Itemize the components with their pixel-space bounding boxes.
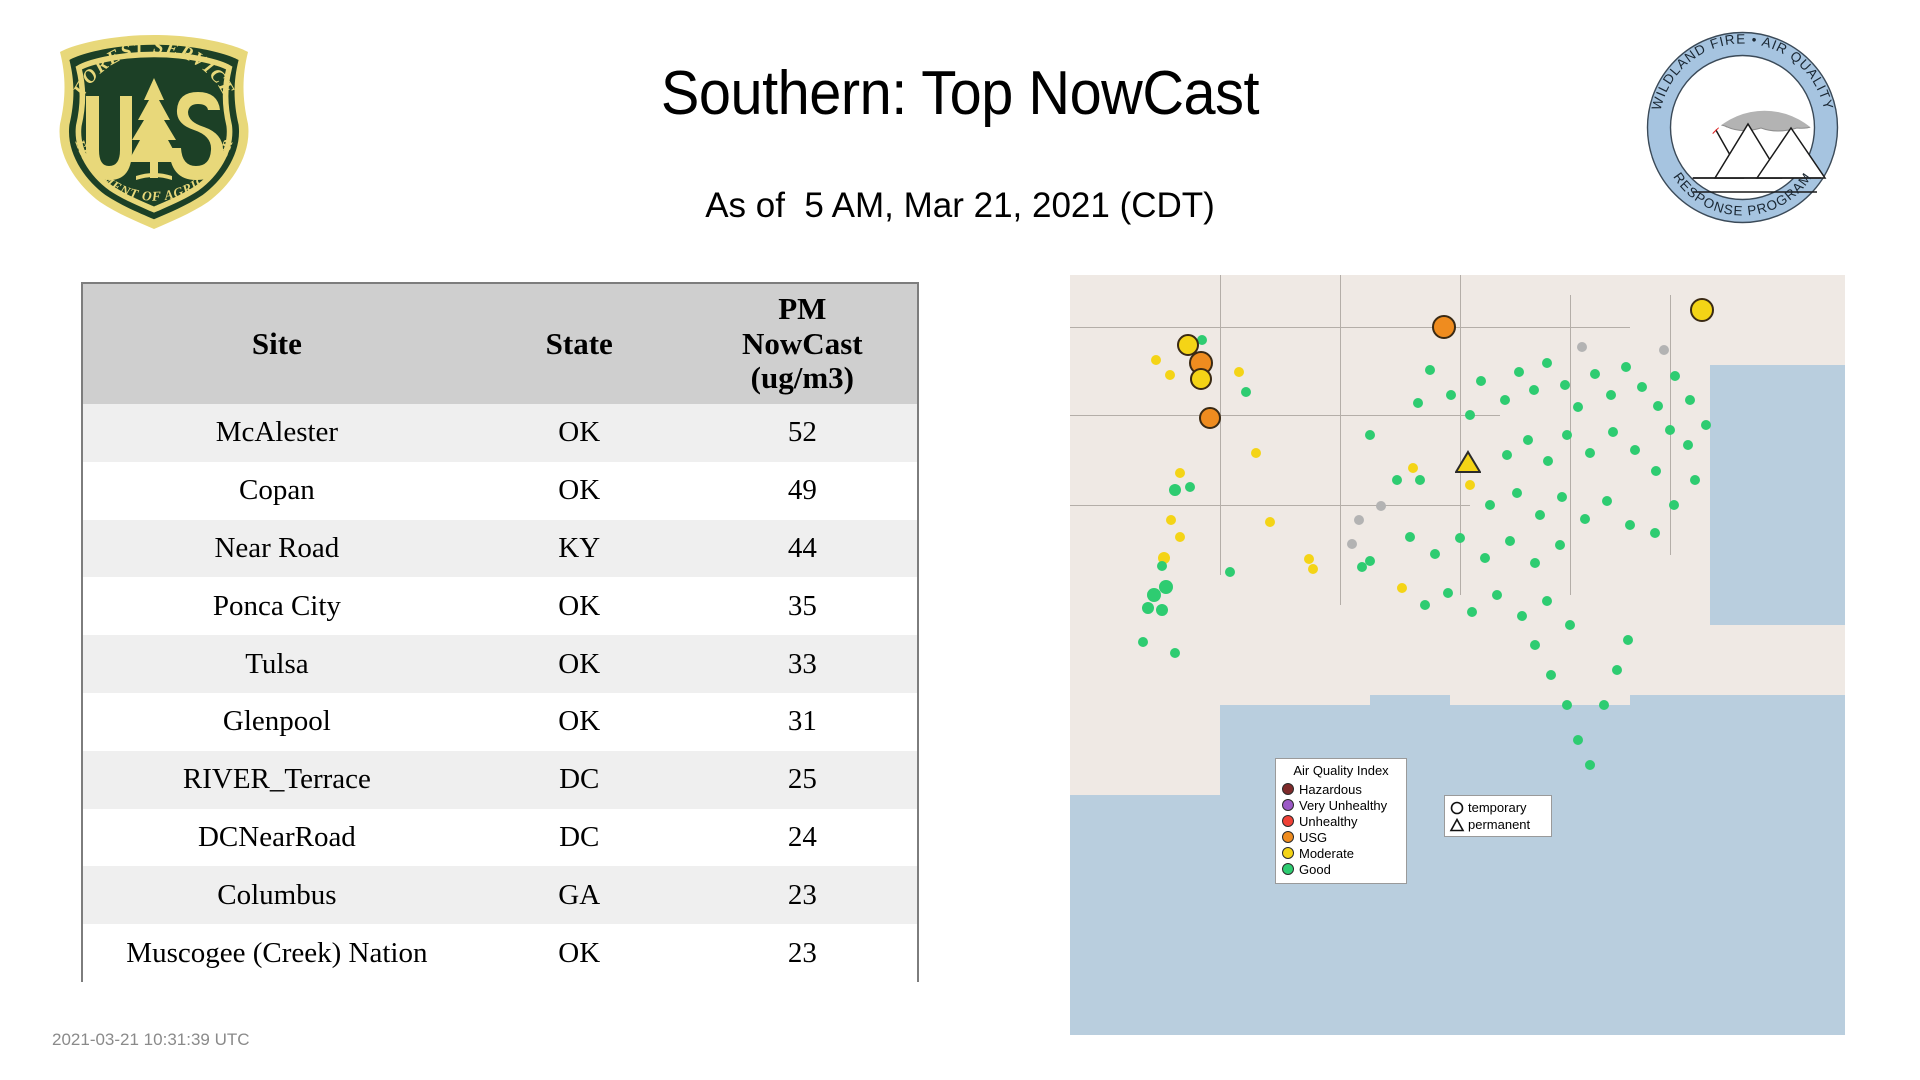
monitor-dot[interactable] [1365,556,1375,566]
aqi-swatch-icon [1282,815,1294,827]
monitor-dot[interactable] [1665,425,1675,435]
monitor-dot[interactable] [1502,450,1512,460]
monitor-dot[interactable] [1476,376,1486,386]
aqi-legend-label: Unhealthy [1299,815,1358,828]
monitor-dot[interactable] [1165,370,1175,380]
monitor-dot[interactable] [1432,315,1456,339]
monitor-dot[interactable] [1514,367,1524,377]
monitor-dot[interactable] [1308,564,1318,574]
monitor-dot[interactable] [1637,382,1647,392]
monitor-dot[interactable] [1670,371,1680,381]
monitor-dot[interactable] [1443,588,1453,598]
aqi-legend-item: Hazardous [1282,781,1400,797]
cell-state: OK [471,404,688,462]
cell-site: Near Road [83,520,471,578]
monitor-dot[interactable] [1151,355,1161,365]
monitor-dot[interactable] [1685,395,1695,405]
monitor-dot[interactable] [1683,440,1693,450]
map-boundary-2 [1070,415,1500,416]
permanent-label: permanent [1468,818,1530,831]
pm-header-line2: NowCast [688,327,917,362]
monitor-dot[interactable] [1543,456,1553,466]
cell-value: 31 [688,693,917,751]
aqi-legend-label: Hazardous [1299,783,1362,796]
cell-value: 49 [688,462,917,520]
aqi-legend-label: Very Unhealthy [1299,799,1387,812]
monitor-dot[interactable] [1580,514,1590,524]
cell-value: 25 [688,751,917,809]
monitor-dot[interactable] [1397,583,1407,593]
table-row: GlenpoolOK31 [83,693,917,751]
monitor-dot[interactable] [1199,407,1221,429]
monitor-dot[interactable] [1265,517,1275,527]
cell-site: RIVER_Terrace [83,751,471,809]
table-row: Ponca CityOK35 [83,577,917,635]
monitor-dot[interactable] [1608,427,1618,437]
aqi-legend-item: Very Unhealthy [1282,797,1400,813]
monitor-dot[interactable] [1557,492,1567,502]
cell-state: KY [471,520,688,578]
monitor-dot[interactable] [1413,398,1423,408]
aqi-legend-item: USG [1282,829,1400,845]
monitor-dot[interactable] [1376,501,1386,511]
monitor-dot[interactable] [1573,735,1583,745]
top-nowcast-table: Site State PM NowCast (ug/m3) McAlesterO… [81,282,919,982]
cell-site: Glenpool [83,693,471,751]
monitor-dot[interactable] [1467,607,1477,617]
aqi-legend-label: Moderate [1299,847,1354,860]
cell-site: Columbus [83,866,471,924]
cell-value: 44 [688,520,917,578]
table-body: McAlesterOK52CopanOK49Near RoadKY44Ponca… [83,404,917,982]
monitor-dot[interactable] [1606,390,1616,400]
aqi-legend: Air Quality Index HazardousVery Unhealth… [1275,758,1407,884]
cell-value: 23 [688,866,917,924]
cell-state: OK [471,693,688,751]
cell-site: Ponca City [83,577,471,635]
air-quality-map[interactable]: Air Quality Index HazardousVery Unhealth… [1070,275,1845,1035]
monitor-dot[interactable] [1480,553,1490,563]
aqi-swatch-icon [1282,863,1294,875]
map-water-southwest [1070,795,1270,1035]
cell-site: Tulsa [83,635,471,693]
cell-state: DC [471,751,688,809]
monitor-dot[interactable] [1573,402,1583,412]
aqi-legend-label: USG [1299,831,1327,844]
monitor-dot[interactable] [1623,635,1633,645]
cell-value: 33 [688,635,917,693]
monitor-dot[interactable] [1690,475,1700,485]
legend-row-temporary: temporary [1449,799,1547,816]
pm-header-line3: (ug/m3) [688,361,917,396]
monitor-dot[interactable] [1529,385,1539,395]
monitor-dot[interactable] [1585,448,1595,458]
permanent-monitor-icon [1449,817,1465,833]
monitor-dot[interactable] [1425,365,1435,375]
aqi-legend-title: Air Quality Index [1282,763,1400,778]
monitor-dot[interactable] [1630,445,1640,455]
monitor-dot[interactable] [1535,510,1545,520]
monitor-dot[interactable] [1392,475,1402,485]
cell-state: OK [471,635,688,693]
page-header: FOREST SERVICE DEPARTMENT OF AGRICULTURE… [0,0,1920,230]
monitor-dot[interactable] [1612,665,1622,675]
monitor-dot[interactable] [1546,670,1556,680]
pm-header-line1: PM [688,292,917,327]
monitor-dot[interactable] [1621,362,1631,372]
cell-site: McAlester [83,404,471,462]
table-row: RIVER_TerraceDC25 [83,751,917,809]
monitor-dot[interactable] [1465,480,1475,490]
monitor-dot[interactable] [1562,700,1572,710]
column-header-site: Site [83,284,471,404]
cell-value: 23 [688,924,917,982]
column-header-state: State [471,284,688,404]
monitor-dot[interactable] [1560,380,1570,390]
monitor-dot[interactable] [1241,387,1251,397]
monitor-dot[interactable] [1157,561,1167,571]
monitor-dot[interactable] [1415,475,1425,485]
table-row: McAlesterOK52 [83,404,917,462]
permanent-monitor-marker[interactable] [1455,450,1481,474]
aqi-legend-item: Moderate [1282,845,1400,861]
table-head: Site State PM NowCast (ug/m3) [83,284,917,404]
monitor-dot[interactable] [1185,482,1195,492]
aqi-legend-item: Good [1282,861,1400,877]
monitor-dot[interactable] [1542,596,1552,606]
footer-timestamp: 2021-03-21 10:31:39 UTC [52,1030,250,1050]
cell-value: 24 [688,809,917,867]
cell-state: DC [471,809,688,867]
monitor-dot[interactable] [1669,500,1679,510]
monitor-dot[interactable] [1175,468,1185,478]
monitor-dot[interactable] [1650,528,1660,538]
monitor-dot[interactable] [1530,640,1540,650]
page-subtitle: As of 5 AM, Mar 21, 2021 (CDT) [0,186,1920,226]
monitor-dot[interactable] [1354,515,1364,525]
monitor-dot[interactable] [1659,345,1669,355]
monitor-dot[interactable] [1142,602,1154,614]
monitor-dot[interactable] [1485,500,1495,510]
wfaqrp-logo: WILDLAND FIRE • AIR QUALITY RESPONSE PRO… [1645,30,1840,225]
monitor-dot[interactable] [1562,430,1572,440]
monitor-dot[interactable] [1585,760,1595,770]
monitor-dot[interactable] [1170,648,1180,658]
monitor-dot[interactable] [1455,533,1465,543]
monitor-dot[interactable] [1625,520,1635,530]
monitor-dot[interactable] [1225,567,1235,577]
monitor-dot[interactable] [1365,430,1375,440]
cell-site: Copan [83,462,471,520]
monitor-dot[interactable] [1505,536,1515,546]
monitor-dot[interactable] [1492,590,1502,600]
map-boundary-1 [1070,327,1630,328]
monitor-dot[interactable] [1690,298,1714,322]
cell-state: OK [471,462,688,520]
monitor-dot[interactable] [1169,484,1181,496]
monitor-dot[interactable] [1408,463,1418,473]
monitor-dot[interactable] [1234,367,1244,377]
table-row: CopanOK49 [83,462,917,520]
monitor-dot[interactable] [1465,410,1475,420]
map-boundary-6 [1460,275,1461,595]
monitor-dot[interactable] [1159,580,1173,594]
cell-state: OK [471,924,688,982]
table-row: TulsaOK33 [83,635,917,693]
monitor-dot[interactable] [1577,342,1587,352]
monitor-dot[interactable] [1542,358,1552,368]
map-water-atlantic [1710,365,1845,625]
page-title: Southern: Top NowCast [67,58,1853,129]
monitor-dot[interactable] [1347,539,1357,549]
cell-site: DCNearRoad [83,809,471,867]
aqi-swatch-icon [1282,831,1294,843]
monitor-dot[interactable] [1701,420,1711,430]
monitor-dot[interactable] [1251,448,1261,458]
monitor-dot[interactable] [1653,401,1663,411]
monitor-dot[interactable] [1405,532,1415,542]
table-row: DCNearRoadDC24 [83,809,917,867]
cell-state: GA [471,866,688,924]
temporary-monitor-icon [1449,800,1465,816]
cell-state: OK [471,577,688,635]
monitor-dot[interactable] [1446,390,1456,400]
map-boundary-7 [1570,295,1571,595]
cell-value: 52 [688,404,917,462]
monitor-dot[interactable] [1430,549,1440,559]
monitor-dot[interactable] [1590,369,1600,379]
monitor-dot[interactable] [1523,435,1533,445]
monitor-dot[interactable] [1500,395,1510,405]
aqi-legend-label: Good [1299,863,1331,876]
aqi-swatch-icon [1282,783,1294,795]
monitor-dot[interactable] [1651,466,1661,476]
monitor-dot[interactable] [1599,700,1609,710]
legend-row-permanent: permanent [1449,816,1547,833]
map-boundary-4 [1220,275,1221,575]
monitor-dot[interactable] [1555,540,1565,550]
monitor-dot[interactable] [1156,604,1168,616]
table-row: Muscogee (Creek) NationOK23 [83,924,917,982]
monitor-dot[interactable] [1602,496,1612,506]
cell-site: Muscogee (Creek) Nation [83,924,471,982]
aqi-swatch-icon [1282,799,1294,811]
cell-value: 35 [688,577,917,635]
monitor-dot[interactable] [1565,620,1575,630]
aqi-legend-rows: HazardousVery UnhealthyUnhealthyUSGModer… [1282,781,1400,877]
aqi-swatch-icon [1282,847,1294,859]
temporary-label: temporary [1468,801,1527,814]
monitor-dot[interactable] [1175,532,1185,542]
aqi-legend-item: Unhealthy [1282,813,1400,829]
column-header-pm-nowcast: PM NowCast (ug/m3) [688,284,917,404]
table-row: ColumbusGA23 [83,866,917,924]
monitor-dot[interactable] [1138,637,1148,647]
nowcast-table: Site State PM NowCast (ug/m3) McAlesterO… [83,284,917,982]
monitor-dot[interactable] [1512,488,1522,498]
monitor-dot[interactable] [1517,611,1527,621]
map-boundary-5 [1340,275,1341,605]
map-boundary-3 [1070,505,1470,506]
monitor-dot[interactable] [1166,515,1176,525]
monitor-dot[interactable] [1304,554,1314,564]
monitor-type-legend: temporary permanent [1444,795,1552,837]
monitor-dot[interactable] [1420,600,1430,610]
table-header-row: Site State PM NowCast (ug/m3) [83,284,917,404]
monitor-dot[interactable] [1530,558,1540,568]
table-row: Near RoadKY44 [83,520,917,578]
monitor-dot[interactable] [1190,368,1212,390]
